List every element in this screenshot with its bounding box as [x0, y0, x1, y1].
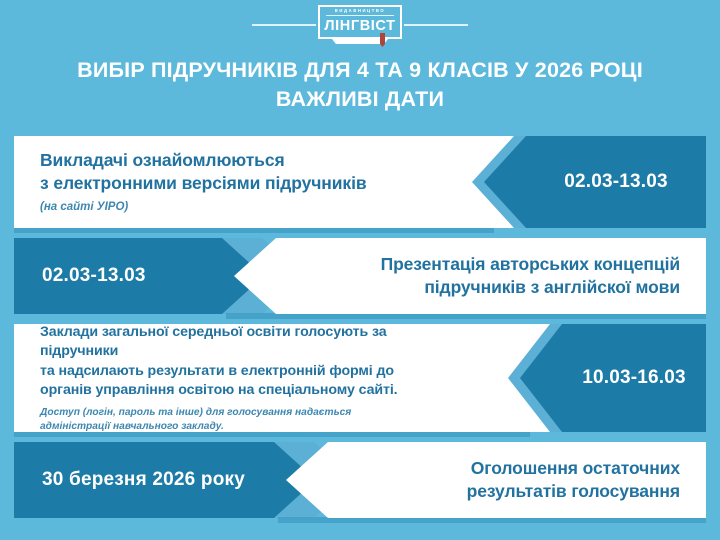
row-3-headline-line-2: та надсилають результати в електронній ф…	[40, 362, 394, 382]
row-2-band: 02.03-13.03 Презентація авторських конце…	[14, 238, 706, 314]
row-3-date-label: 10.03-16.03	[582, 367, 686, 389]
page-header: ВИДАВНИЦТВО ЛІНГВІСТ	[0, 0, 720, 50]
timeline-row-2: 02.03-13.03 Презентація авторських конце…	[14, 238, 706, 314]
row-2-text-panel: Презентація авторських концепцій підручн…	[234, 238, 706, 314]
row-3-subnote-line-1: Доступ (логін, пароль та інше) для голос…	[40, 406, 351, 420]
timeline-row-1: Викладачі ознайомлюються з електронними …	[14, 136, 706, 228]
row-2-date-panel: 02.03-13.03	[14, 238, 264, 314]
lingvist-logo: ВИДАВНИЦТВО ЛІНГВІСТ	[318, 5, 402, 45]
row-3-band: Заклади загальної середньої освіти голос…	[14, 324, 706, 432]
row-4-text-panel: Оголошення остаточних результатів голосу…	[286, 442, 706, 518]
row-4-headline-line-2: результатів голосування	[467, 480, 680, 503]
row-4-band: 30 березня 2026 року Оголошення остаточн…	[14, 442, 706, 518]
logo-wordmark: ЛІНГВІСТ	[318, 17, 402, 36]
row-4-headline-line-1: Оголошення остаточних	[471, 457, 680, 480]
row-1-date-panel: 02.03-13.03	[484, 136, 706, 228]
row-1-date-label: 02.03-13.03	[564, 171, 668, 193]
row-3-headline-line-3: органів управління освітою на спеціально…	[40, 381, 398, 401]
timeline-row-4: 30 березня 2026 року Оголошення остаточн…	[14, 442, 706, 518]
row-2-headline-line-1: Презентація авторських концепцій	[381, 253, 680, 276]
row-3-text-panel: Заклади загальної середньої освіти голос…	[14, 324, 550, 432]
row-4-date-panel: 30 березня 2026 року	[14, 442, 316, 518]
row-1-subnote: (на сайті УІРО)	[40, 200, 128, 216]
logo-separator-line	[326, 15, 394, 16]
row-1-headline-line-2: з електронними версіями підручників	[40, 172, 367, 195]
row-2-date-label: 02.03-13.03	[42, 265, 146, 287]
row-1-headline-line-1: Викладачі ознайомлюються	[40, 149, 285, 172]
page-title: ВИБІР ПІДРУЧНИКІВ ДЛЯ 4 ТА 9 КЛАСІВ У 20…	[0, 56, 720, 114]
row-2-headline-line-2: підручників з англійскої мови	[424, 276, 680, 299]
row-3-subnote-line-2: адміністрації навчального закладу.	[40, 420, 224, 434]
row-3-headline-line-1: Заклади загальної середньої освіти голос…	[40, 323, 460, 362]
timeline-row-3: Заклади загальної середньої освіти голос…	[14, 324, 706, 432]
page-title-line-1: ВИБІР ПІДРУЧНИКІВ ДЛЯ 4 ТА 9 КЛАСІВ У 20…	[77, 58, 643, 82]
row-1-text-panel: Викладачі ознайомлюються з електронними …	[14, 136, 514, 228]
page-title-line-2: ВАЖЛИВІ ДАТИ	[0, 85, 720, 114]
logo-banner-tail	[332, 39, 388, 44]
row-1-band: Викладачі ознайомлюються з електронними …	[14, 136, 706, 228]
logo-kicker-text: ВИДАВНИЦТВО	[318, 8, 402, 14]
header-divider-left	[252, 24, 316, 26]
logo-pen-icon	[380, 33, 385, 47]
row-4-date-label: 30 березня 2026 року	[42, 469, 245, 491]
header-divider-right	[404, 24, 468, 26]
